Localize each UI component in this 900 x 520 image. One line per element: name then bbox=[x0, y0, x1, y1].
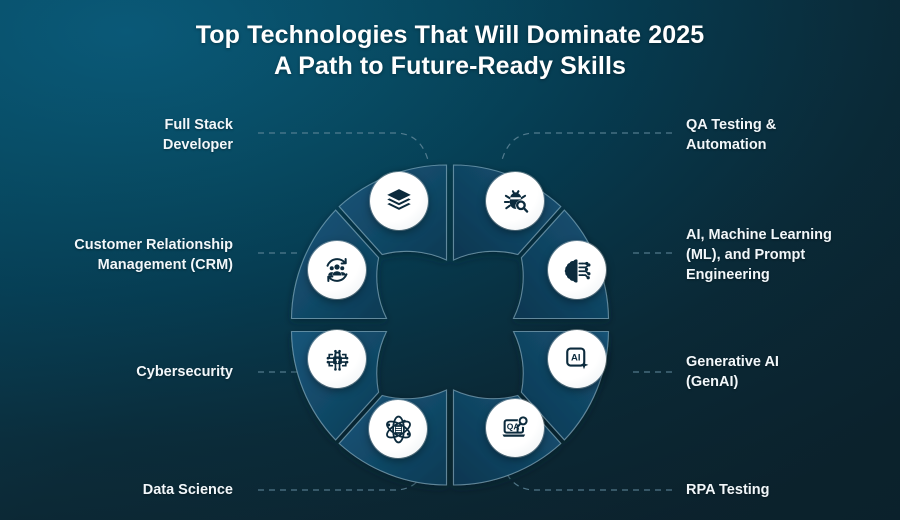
crm-people-cycle-icon bbox=[322, 255, 352, 285]
label-full-stack-developer: Full Stack Developer bbox=[28, 115, 233, 155]
icon-badge-data-science[interactable] bbox=[369, 400, 427, 458]
label-full-stack-line-2: Developer bbox=[28, 135, 233, 155]
icon-badge-crm[interactable] bbox=[308, 241, 366, 299]
bug-magnifier-icon bbox=[500, 186, 531, 217]
layers-icon bbox=[384, 186, 414, 216]
icon-badge-rpa-testing[interactable]: QA bbox=[486, 399, 544, 457]
label-data-science: Data Science bbox=[28, 480, 233, 500]
label-rpa-text: RPA Testing bbox=[686, 480, 891, 500]
label-rpa-testing: RPA Testing bbox=[686, 480, 891, 500]
brain-circuit-icon bbox=[562, 255, 593, 286]
label-qa-testing: QA Testing & Automation bbox=[686, 115, 891, 155]
icon-badge-cybersecurity[interactable] bbox=[308, 330, 366, 388]
ai-sparkle-icon: AI bbox=[562, 344, 592, 374]
icon-badge-qa-testing[interactable] bbox=[486, 172, 544, 230]
laptop-qa-icon: QA bbox=[500, 413, 531, 444]
title-line-2: A Path to Future-Ready Skills bbox=[0, 51, 900, 82]
label-aiml-line-3: Engineering bbox=[686, 265, 896, 285]
svg-text:AI: AI bbox=[571, 353, 581, 364]
label-crm: Customer Relationship Management (CRM) bbox=[18, 235, 233, 275]
icon-badge-genai[interactable]: AI bbox=[548, 330, 606, 388]
label-crm-line-2: Management (CRM) bbox=[18, 255, 233, 275]
label-data-science-text: Data Science bbox=[28, 480, 233, 500]
icon-badge-full-stack[interactable] bbox=[370, 172, 428, 230]
infographic-canvas: Top Technologies That Will Dominate 2025… bbox=[0, 0, 900, 520]
label-genai-line-1: Generative AI bbox=[686, 352, 891, 372]
page-title: Top Technologies That Will Dominate 2025… bbox=[0, 20, 900, 82]
label-cybersecurity: Cybersecurity bbox=[28, 362, 233, 382]
label-genai-line-2: (GenAI) bbox=[686, 372, 891, 392]
label-qa-line-2: Automation bbox=[686, 135, 891, 155]
label-crm-line-1: Customer Relationship bbox=[18, 235, 233, 255]
atom-database-icon bbox=[383, 414, 414, 445]
label-full-stack-line-1: Full Stack bbox=[28, 115, 233, 135]
label-genai: Generative AI (GenAI) bbox=[686, 352, 891, 392]
label-aiml-line-1: AI, Machine Learning bbox=[686, 225, 896, 245]
label-ai-ml: AI, Machine Learning (ML), and Prompt En… bbox=[686, 225, 896, 285]
label-aiml-line-2: (ML), and Prompt bbox=[686, 245, 896, 265]
label-cybersecurity-text: Cybersecurity bbox=[28, 362, 233, 382]
title-line-1: Top Technologies That Will Dominate 2025 bbox=[0, 20, 900, 51]
icon-badge-ai-ml[interactable] bbox=[548, 241, 606, 299]
circuit-lock-icon bbox=[322, 344, 353, 375]
label-qa-line-1: QA Testing & bbox=[686, 115, 891, 135]
